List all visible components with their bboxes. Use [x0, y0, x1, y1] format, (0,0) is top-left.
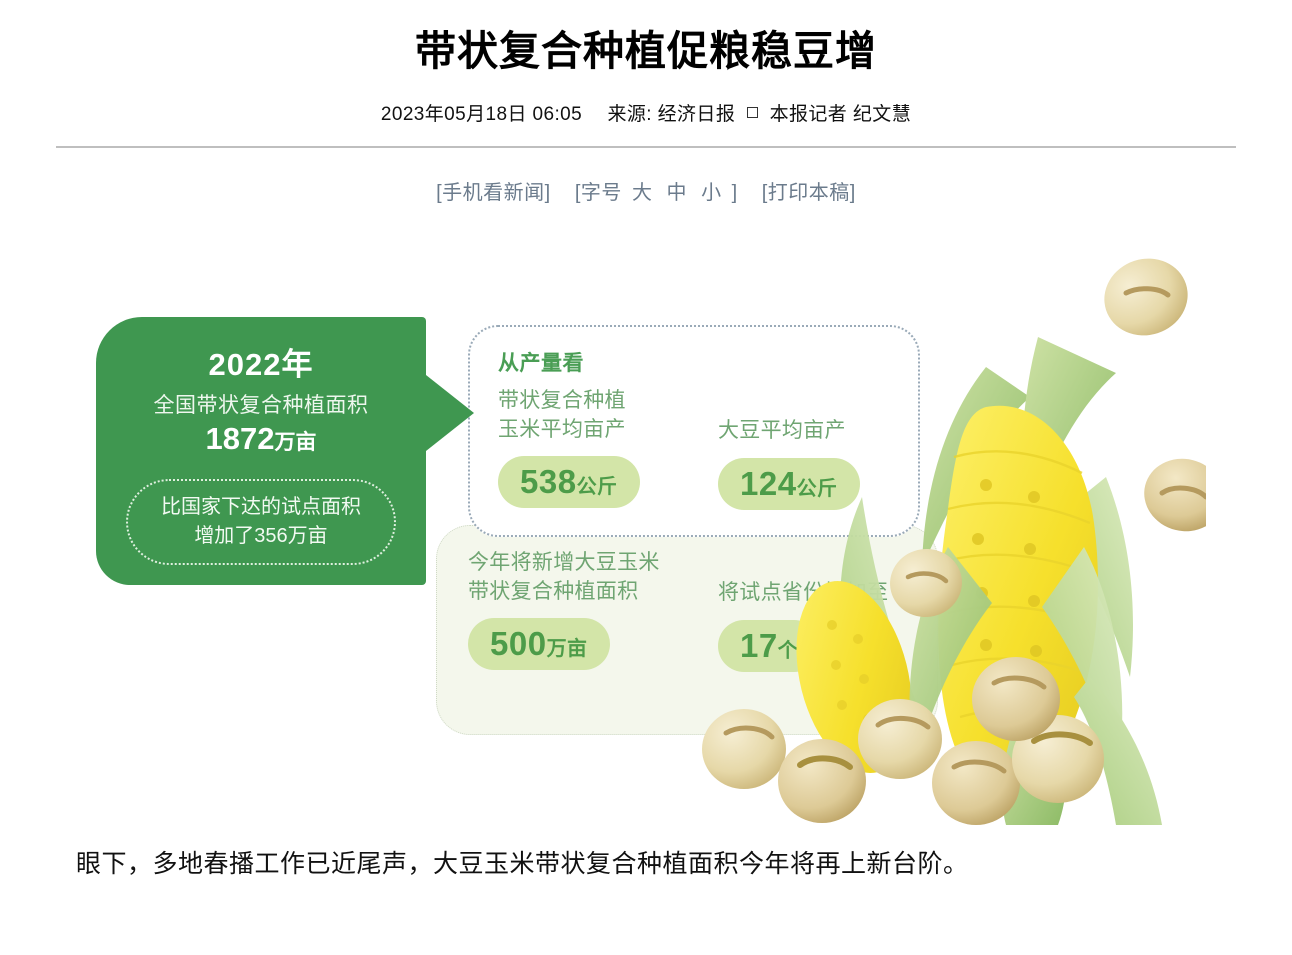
green-panel-figure: 1872万亩 — [96, 421, 426, 457]
stat-pilot-provinces-label: 将试点省份增加至 — [718, 579, 928, 607]
stat-corn-yield-pill: 538公斤 — [498, 456, 640, 508]
mobile-news-link[interactable]: [手机看新闻] — [436, 182, 551, 204]
soybean-flying-top — [1094, 248, 1197, 346]
font-size-bracket-close: ] — [732, 182, 738, 204]
byline-source-label: 来源: — [607, 104, 651, 125]
byline: 2023年05月18日 06:05 来源: 经济日报 本报记者 纪文慧 — [0, 99, 1292, 126]
byline-datetime: 2023年05月18日 06:05 — [381, 104, 582, 125]
green-panel-note-line1: 比国家下达的试点面积 — [161, 493, 361, 522]
article-body: 眼下，多地春播工作已近尾声，大豆玉米带状复合种植面积今年将再上新台阶。 — [76, 827, 1216, 886]
stat-new-area-label: 今年将新增大豆玉米 带状复合种植面积 — [468, 549, 688, 606]
article-header: 带状复合种植促粮稳豆增 2023年05月18日 06:05 来源: 经济日报 本… — [0, 0, 1292, 148]
stat-pilot-provinces: 将试点省份增加至 17个 — [718, 579, 928, 671]
corn-husk-leaves — [909, 547, 1162, 825]
article-toolbar: [手机看新闻] [字号 大 中 小 ] [打印本稿] — [0, 176, 1292, 205]
green-panel-figure-value: 1872 — [206, 421, 275, 456]
stat-new-area: 今年将新增大豆玉米 带状复合种植面积 500万亩 — [468, 549, 688, 670]
soybean — [972, 657, 1060, 741]
stat-corn-yield-unit: 公斤 — [577, 476, 618, 498]
stat-soybean-yield: 大豆平均亩产 124公斤 — [718, 417, 908, 509]
font-size-medium-button[interactable]: 中 — [663, 176, 692, 205]
font-size-label: [字号 — [575, 182, 622, 204]
stat-soybean-yield-pill: 124公斤 — [718, 458, 860, 510]
stat-pilot-provinces-value: 17 — [740, 627, 778, 664]
stat-soybean-yield-label: 大豆平均亩产 — [718, 417, 908, 445]
infographic: 2022年 全国带状复合种植面积 1872万亩 比国家下达的试点面积 增加了35… — [86, 247, 1206, 827]
font-size-group: [字号 大 中 小 ] — [575, 176, 738, 205]
print-article-link[interactable]: [打印本稿] — [762, 182, 856, 204]
soybean — [932, 741, 1020, 825]
green-panel-subtitle: 全国带状复合种植面积 — [96, 389, 426, 419]
print-group: [打印本稿] — [762, 176, 856, 205]
green-summary-panel: 2022年 全国带状复合种植面积 1872万亩 比国家下达的试点面积 增加了35… — [96, 317, 426, 585]
stat-corn-yield-label: 带状复合种植 玉米平均亩产 — [498, 387, 678, 444]
stat-pilot-provinces-pill: 17个 — [718, 620, 820, 672]
byline-author: 本报记者 纪文慧 — [770, 104, 911, 125]
soybean — [1012, 715, 1104, 803]
mobile-news-group: [手机看新闻] — [436, 176, 551, 205]
article-paragraph: 眼下，多地春播工作已近尾声，大豆玉米带状复合种植面积今年将再上新台阶。 — [76, 843, 1216, 886]
stat-soybean-yield-value: 124 — [740, 465, 797, 502]
stat-new-area-unit: 万亩 — [547, 638, 588, 660]
soybean — [778, 739, 866, 823]
soybean-flying-right — [1136, 451, 1206, 540]
green-panel-arrow-icon — [426, 375, 474, 451]
stat-corn-yield-value: 538 — [520, 463, 577, 500]
font-size-small-button[interactable]: 小 — [697, 176, 726, 205]
stat-soybean-yield-unit: 公斤 — [797, 478, 838, 500]
green-panel-year: 2022年 — [96, 339, 426, 384]
square-bullet-icon — [747, 107, 758, 118]
stat-new-area-pill: 500万亩 — [468, 618, 610, 670]
upper-panel-heading-wrap: 从产量看 — [498, 347, 584, 377]
stat-corn-yield: 带状复合种植 玉米平均亩产 538公斤 — [498, 387, 678, 508]
stat-pilot-provinces-unit: 个 — [778, 640, 799, 662]
green-panel-note-line2: 增加了356万亩 — [194, 522, 327, 551]
font-size-large-button[interactable]: 大 — [628, 176, 657, 205]
green-panel-note: 比国家下达的试点面积 增加了356万亩 — [126, 479, 396, 565]
header-divider — [56, 146, 1236, 148]
corn-cob-main — [938, 406, 1098, 794]
byline-source: 经济日报 — [658, 104, 736, 125]
page-title: 带状复合种植促粮稳豆增 — [0, 26, 1292, 77]
upper-panel-heading: 从产量看 — [498, 347, 584, 377]
green-panel-figure-unit: 万亩 — [274, 431, 316, 454]
stat-new-area-value: 500 — [490, 625, 547, 662]
